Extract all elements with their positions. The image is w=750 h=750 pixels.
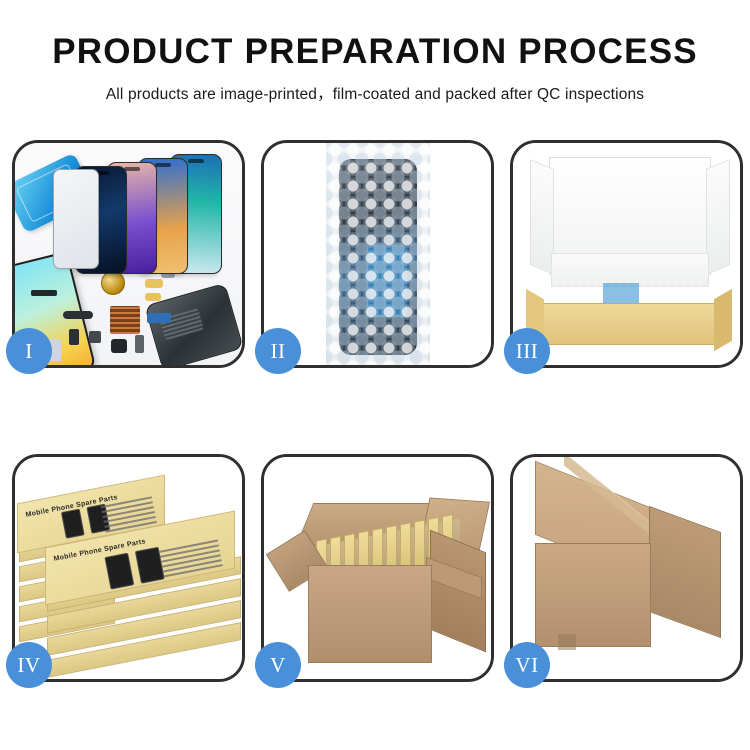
phone-display-fan <box>75 149 242 274</box>
part-icon <box>63 311 93 319</box>
open-shipping-carton <box>278 483 484 669</box>
process-step-panel-2: II <box>261 140 494 368</box>
process-step-panel-6: VI <box>510 454 743 682</box>
tempered-glass-icon <box>53 169 99 269</box>
part-icon <box>147 313 171 323</box>
copper-chip-icon <box>110 306 140 334</box>
kraft-box-front-icon <box>541 303 717 345</box>
step-1-image <box>15 143 242 365</box>
sealed-shipping-carton <box>531 491 727 657</box>
process-step-panel-1: I <box>12 140 245 368</box>
step-badge-1: I <box>6 328 52 374</box>
step-6-image <box>513 457 740 679</box>
bubble-pattern-icon <box>326 143 430 365</box>
process-step-panel-4: Mobile Phone Spare Parts Mobile Phone Sp… <box>12 454 245 682</box>
part-icon <box>31 290 57 296</box>
kraft-box-stack: Mobile Phone Spare Parts Mobile Phone Sp… <box>17 475 242 679</box>
page-title: PRODUCT PREPARATION PROCESS <box>0 34 750 71</box>
step-badge-2: II <box>255 328 301 374</box>
bubble-wrap-sleeve <box>326 143 430 365</box>
step-4-image: Mobile Phone Spare Parts Mobile Phone Sp… <box>15 457 242 679</box>
step-badge-5: V <box>255 642 301 688</box>
carton-side-face <box>649 506 721 638</box>
carton-front-face <box>535 543 651 647</box>
notch-icon <box>124 167 140 171</box>
carton-front-face <box>308 565 432 663</box>
process-step-panel-3: III <box>510 140 743 368</box>
notch-icon <box>188 159 204 163</box>
part-icon <box>145 293 161 301</box>
infographic-page: PRODUCT PREPARATION PROCESS All products… <box>0 0 750 750</box>
part-icon <box>111 339 127 353</box>
step-3-image <box>513 143 740 365</box>
step-2-image <box>264 143 491 365</box>
step-badge-6: VI <box>504 642 550 688</box>
speaker-coil-icon <box>101 271 125 295</box>
part-icon <box>145 279 163 288</box>
step-badge-3: III <box>504 328 550 374</box>
part-icon <box>89 331 101 343</box>
printed-box-front: Mobile Phone Spare Parts <box>45 529 235 587</box>
part-icon <box>135 335 144 353</box>
notch-icon <box>155 163 171 167</box>
part-icon <box>69 329 79 345</box>
step-badge-4: IV <box>6 642 52 688</box>
process-step-panel-5: V <box>261 454 494 682</box>
step-5-image <box>264 457 491 679</box>
process-step-grid: I II III <box>12 140 738 682</box>
header: PRODUCT PREPARATION PROCESS All products… <box>0 0 750 104</box>
page-subtitle: All products are image-printed，film-coat… <box>0 82 750 104</box>
carton-label-icon <box>558 634 576 650</box>
